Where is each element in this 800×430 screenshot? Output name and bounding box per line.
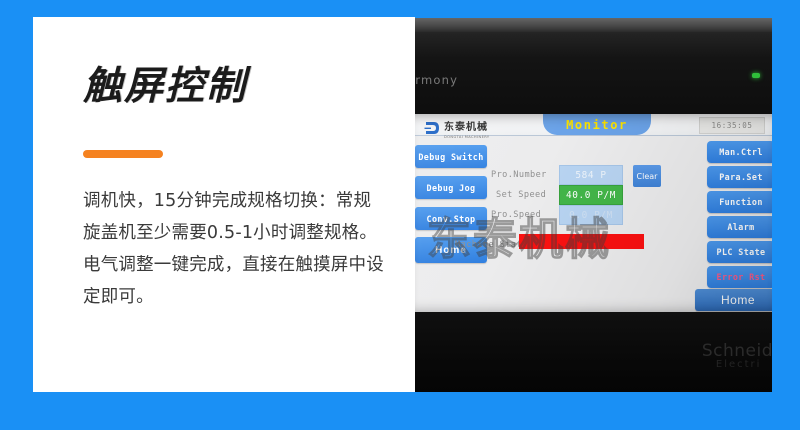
machine-state-indicator [519,234,644,249]
accent-divider [83,150,163,158]
schneider-electric-logo: Schneide Electri [702,341,772,370]
value-pro-speed[interactable]: 0.0 P/M [559,205,623,225]
clock-value: 16:35:05 [712,121,753,130]
panel-bezel-bottom: Schneide Electri [415,312,772,392]
button-plc-state[interactable]: PLC State [707,241,772,263]
button-debug-switch[interactable]: Debug Switch [415,145,487,168]
hmi-header-bar: 东泰机械 DONGTAI MACHINERY Monitor 16:35:05 [415,114,772,136]
hmi-screen: 东泰机械 DONGTAI MACHINERY Monitor 16:35:05 … [415,114,772,313]
button-error-reset[interactable]: Error Rst [707,266,772,288]
button-function[interactable]: Function [707,191,772,213]
button-conv-stop[interactable]: Conv.Stop [415,207,487,230]
screen-title-tab: Monitor [543,114,651,135]
power-led-indicator [752,73,760,78]
page-root: 触屏控制 调机快，15分钟完成规格切换：常规旋盖机至少需要0.5-1小时调整规格… [0,0,800,430]
panel-bezel-top: armony [415,18,772,118]
screen-title-text: Monitor [566,118,628,132]
button-man-ctrl[interactable]: Man.Ctrl [707,141,772,163]
button-alarm[interactable]: Alarm [707,216,772,238]
page-title: 触屏控制 [83,64,247,110]
label-pro-number: Pro.Number [491,170,547,180]
label-pro-speed: Pro.Speed [491,210,541,220]
description-text: 调机快，15分钟完成规格切换：常规旋盖机至少需要0.5-1小时调整规格。电气调整… [83,185,388,313]
machine-brand-logo: 东泰机械 DONGTAI MACHINERY [424,117,490,139]
value-pro-number[interactable]: 584 P [559,165,623,185]
button-debug-jog[interactable]: Debug Jog [415,176,487,199]
dongtai-d-icon [424,121,440,135]
brand-name-cn: 东泰机械 [444,122,488,133]
hmi-photo: armony 东泰机械 DONGTAI MACHINERY [415,18,772,392]
schneider-wordmark: Schneide [702,341,772,361]
label-machine-state: Machine Stat [455,240,522,250]
clock-display: 16:35:05 [699,117,765,134]
button-clear[interactable]: Clear [633,165,661,187]
harmony-brand-label: armony [415,73,458,87]
label-set-speed: Set Speed [496,190,546,200]
brand-name-en: DONGTAI MACHINERY [444,135,490,139]
button-para-set[interactable]: Para.Set [707,166,772,188]
value-set-speed[interactable]: 40.0 P/M [559,185,623,205]
button-home-right[interactable]: Home [695,289,772,311]
left-content-card: 触屏控制 调机快，15分钟完成规格切换：常规旋盖机至少需要0.5-1小时调整规格… [33,17,415,392]
